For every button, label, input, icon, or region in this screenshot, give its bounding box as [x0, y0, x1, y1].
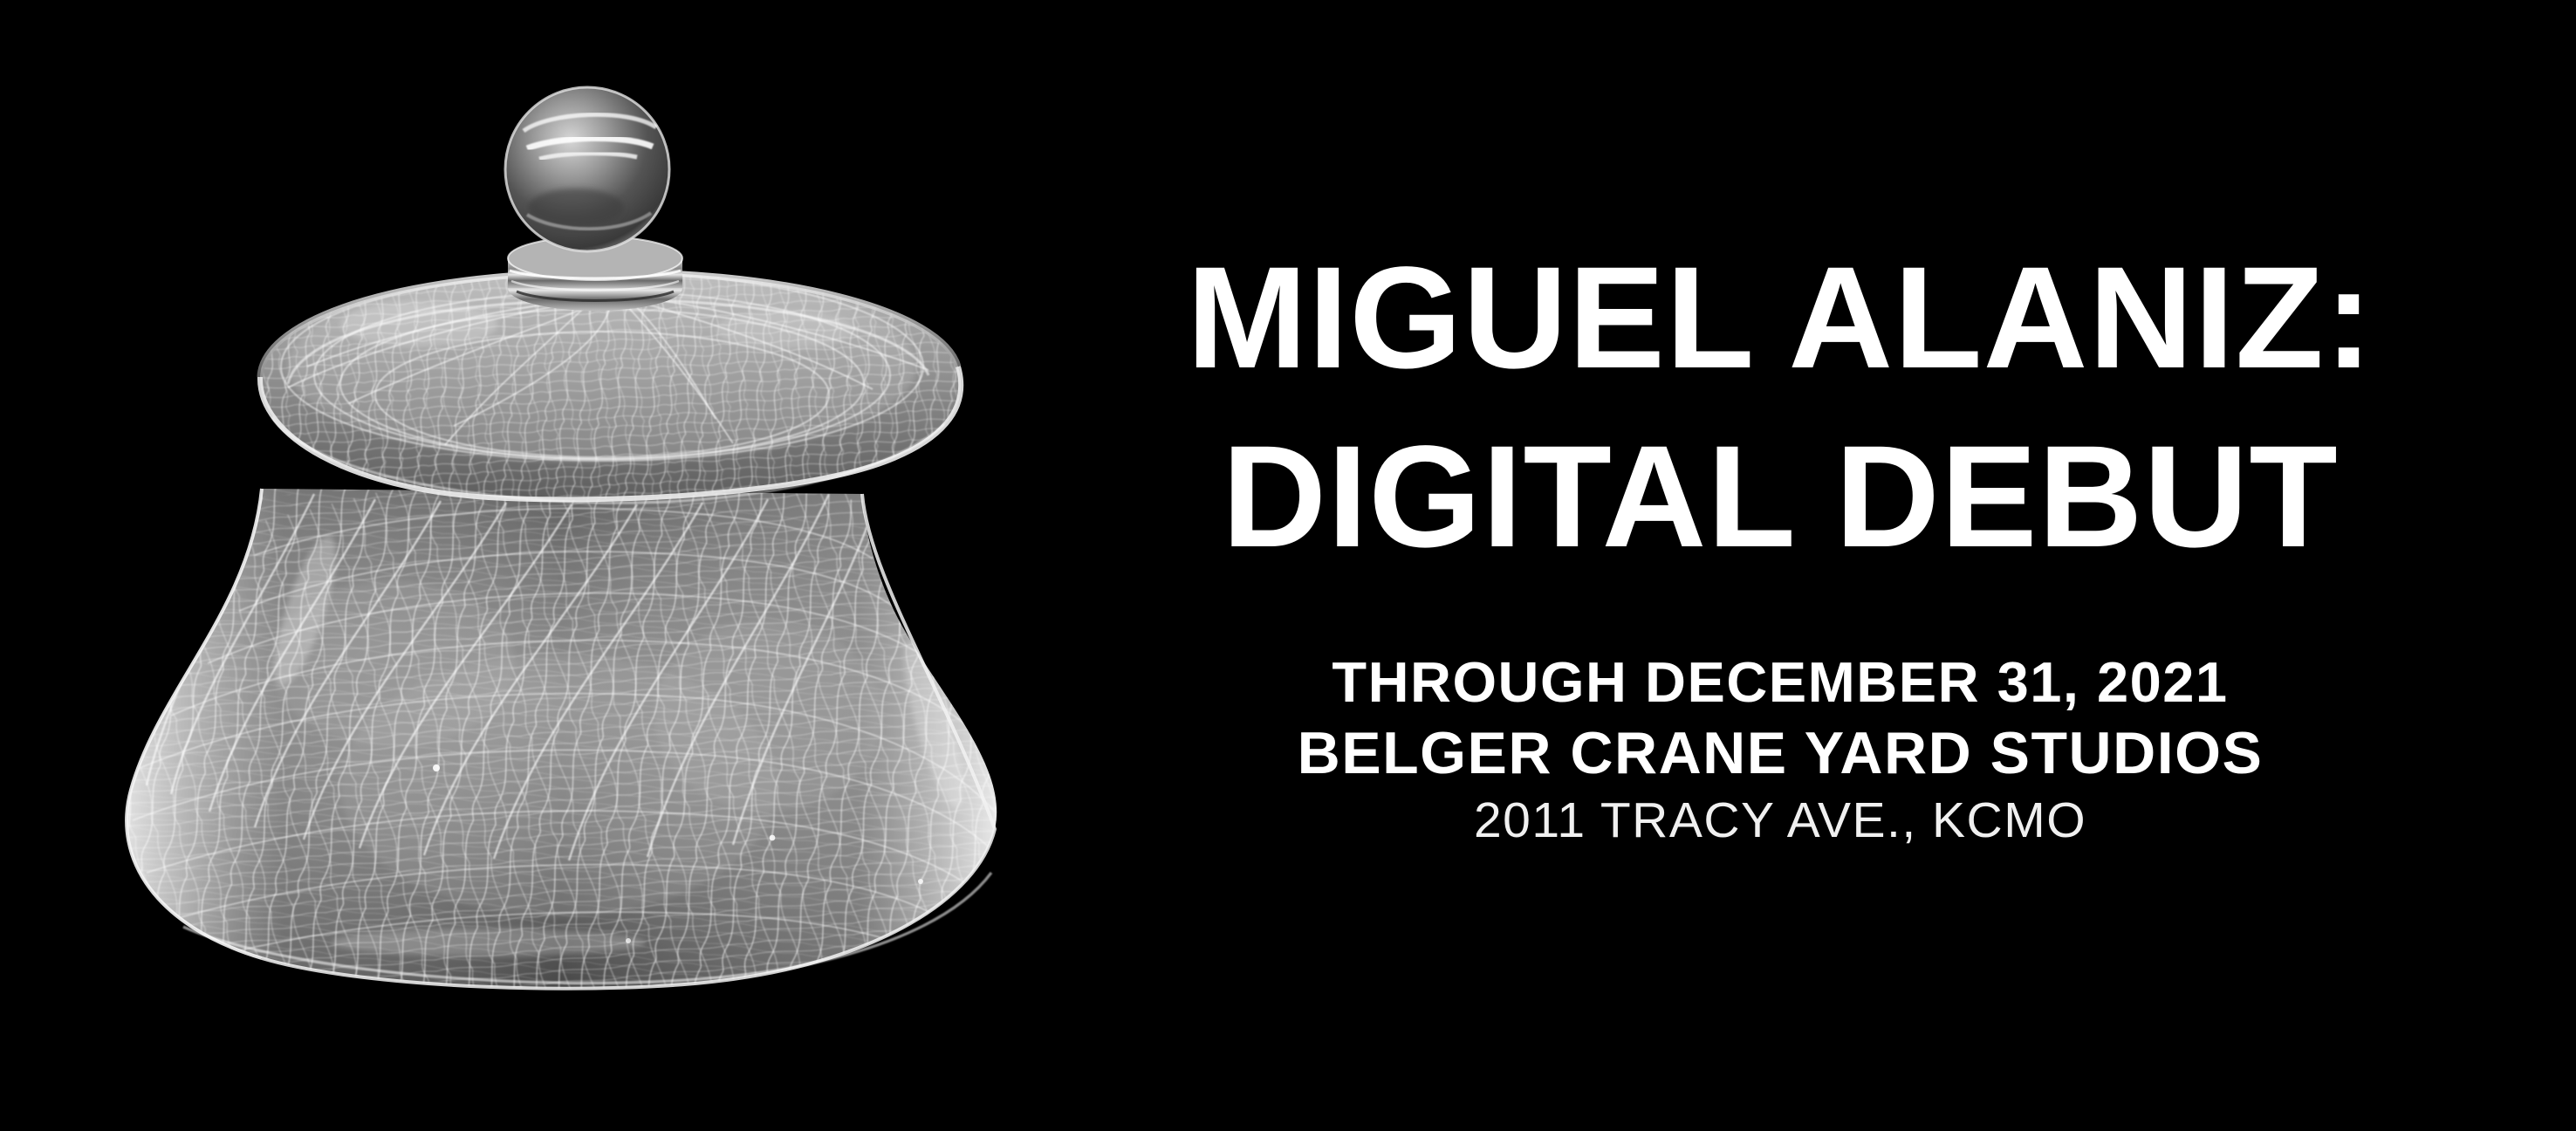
finial-knob	[505, 87, 669, 251]
venue-address: 2011 TRACY AVE., KCMO	[1134, 789, 2426, 852]
poster-text-block: MIGUEL ALANIZ: DIGITAL DEBUT THROUGH DEC…	[1134, 0, 2443, 1131]
title-line-1: MIGUEL ALANIZ:	[1134, 229, 2426, 408]
venue-name: BELGER CRANE YARD STUDIOS	[1134, 717, 2426, 789]
title-line-2: DIGITAL DEBUT	[1134, 408, 2426, 586]
exhibition-title: MIGUEL ALANIZ: DIGITAL DEBUT	[1134, 229, 2426, 586]
exhibition-dates: THROUGH DECEMBER 31, 2021	[1134, 648, 2426, 717]
exhibition-poster: MIGUEL ALANIZ: DIGITAL DEBUT THROUGH DEC…	[0, 0, 2576, 1131]
exhibition-details: THROUGH DECEMBER 31, 2021 BELGER CRANE Y…	[1134, 648, 2426, 852]
glass-jar-artwork	[0, 0, 1161, 1131]
